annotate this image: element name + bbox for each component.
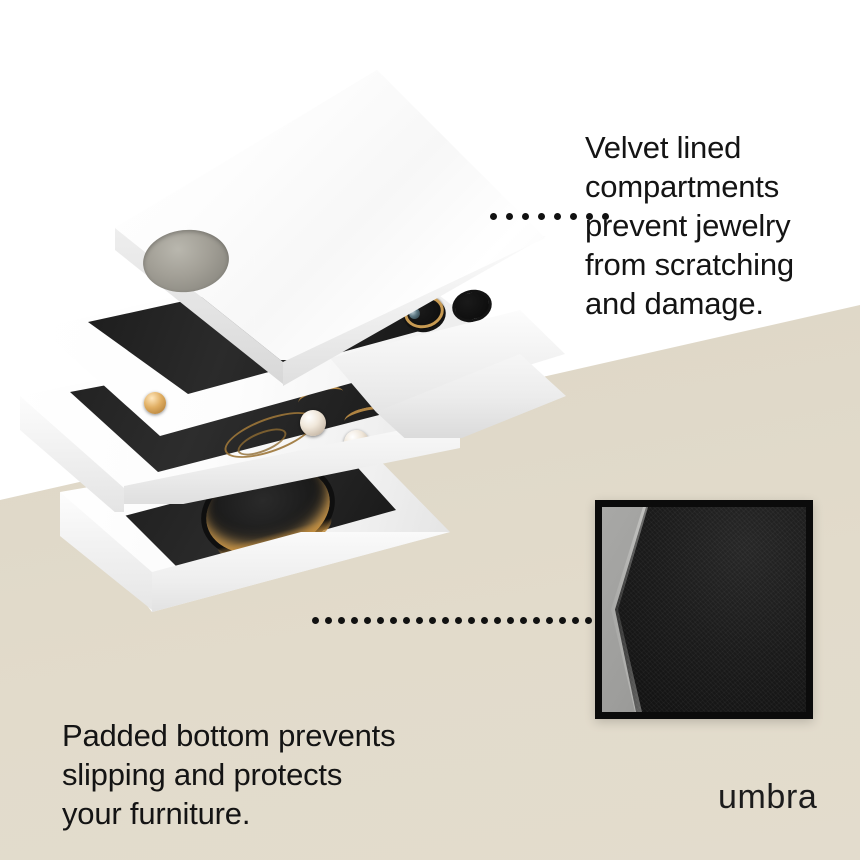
- dot: [377, 617, 384, 624]
- dot: [520, 617, 527, 624]
- dot: [572, 617, 579, 624]
- callout-line: prevent jewelry: [585, 206, 835, 245]
- dot: [506, 213, 513, 220]
- callout-line: slipping and protects: [62, 755, 462, 794]
- callout-text-velvet: Velvet lined compartments prevent jewelr…: [585, 128, 835, 323]
- callout-dots-padded: [312, 617, 618, 624]
- dot: [468, 617, 475, 624]
- brand-logo: umbra: [718, 778, 817, 817]
- callout-text-padded: Padded bottom prevents slipping and prot…: [62, 716, 462, 833]
- dot: [494, 617, 501, 624]
- dot: [522, 213, 529, 220]
- dot: [559, 617, 566, 624]
- dot: [507, 617, 514, 624]
- dot: [403, 617, 410, 624]
- pearl-drop-left: [300, 410, 326, 436]
- dot: [429, 617, 436, 624]
- dot: [585, 617, 592, 624]
- dot: [351, 617, 358, 624]
- dot: [325, 617, 332, 624]
- dot: [481, 617, 488, 624]
- callout-line: from scratching: [585, 245, 835, 284]
- dot: [390, 617, 397, 624]
- dot: [490, 213, 497, 220]
- callout-line: compartments: [585, 167, 835, 206]
- dot: [455, 617, 462, 624]
- dot: [554, 213, 561, 220]
- dot: [312, 617, 319, 624]
- inset-detail-photo: [595, 500, 813, 719]
- dot: [442, 617, 449, 624]
- callout-line: and damage.: [585, 284, 835, 323]
- dot: [364, 617, 371, 624]
- dot: [546, 617, 553, 624]
- topaz-stone: [144, 392, 166, 414]
- product-photo: [0, 40, 600, 620]
- callout-line: Velvet lined: [585, 128, 835, 167]
- callout-line: your furniture.: [62, 794, 462, 833]
- dot: [533, 617, 540, 624]
- callout-line: Padded bottom prevents: [62, 716, 462, 755]
- dot: [416, 617, 423, 624]
- dot: [538, 213, 545, 220]
- marketing-image: Velvet lined compartments prevent jewelr…: [0, 0, 860, 860]
- dot: [570, 213, 577, 220]
- dot: [338, 617, 345, 624]
